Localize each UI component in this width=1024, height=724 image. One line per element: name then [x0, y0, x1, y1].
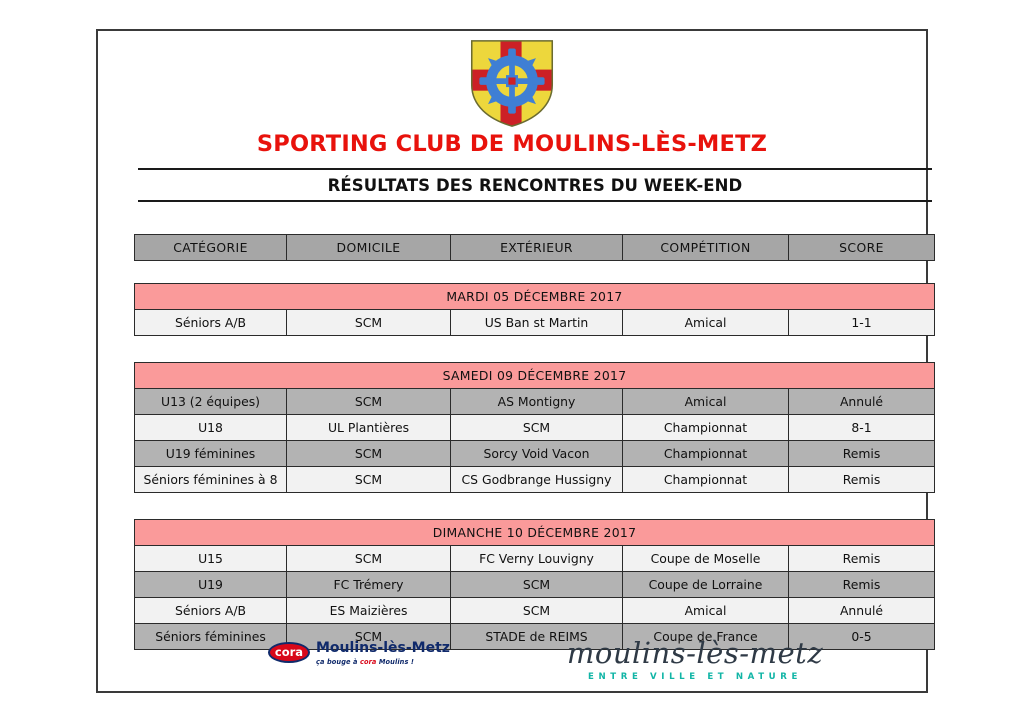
city-logo: moulins-lès-metz ENTRE VILLE ET NATURE — [550, 637, 840, 682]
page-subtitle: RÉSULTATS DES RENCONTRES DU WEEK-END — [138, 170, 932, 200]
cell-score: Remis — [789, 572, 935, 598]
club-crest-shield-icon — [463, 37, 561, 129]
cell-domicile: SCM — [287, 389, 451, 415]
table-row: U13 (2 équipes) SCM AS Montigny Amical A… — [135, 389, 935, 415]
results-column-header-table: CATÉGORIE DOMICILE EXTÉRIEUR COMPÉTITION… — [134, 234, 935, 261]
cell-domicile: SCM — [287, 546, 451, 572]
table-row: Séniors A/B ES Maizières SCM Amical Annu… — [135, 598, 935, 624]
column-header-score: SCORE — [789, 235, 935, 261]
cell-exterieur: SCM — [451, 598, 623, 624]
spacer-after-samedi — [134, 493, 934, 519]
cora-text-block: Moulins-lès-Metz ça bouge à cora Moulins… — [316, 641, 450, 666]
cell-domicile: UL Plantières — [287, 415, 451, 441]
cell-exterieur: CS Godbrange Hussigny — [451, 467, 623, 493]
date-header-row: SAMEDI 09 DÉCEMBRE 2017 — [135, 363, 935, 389]
cell-score: Remis — [789, 467, 935, 493]
cell-domicile: ES Maizières — [287, 598, 451, 624]
date-header-row: DIMANCHE 10 DÉCEMBRE 2017 — [135, 520, 935, 546]
table-row: Séniors féminines à 8 SCM CS Godbrange H… — [135, 467, 935, 493]
column-header-exterieur: EXTÉRIEUR — [451, 235, 623, 261]
cell-score: 1-1 — [789, 310, 935, 336]
cell-exterieur: US Ban st Martin — [451, 310, 623, 336]
cell-score: Annulé — [789, 389, 935, 415]
column-header-domicile: DOMICILE — [287, 235, 451, 261]
table-row: U19 FC Trémery SCM Coupe de Lorraine Rem… — [135, 572, 935, 598]
column-header-categorie: CATÉGORIE — [135, 235, 287, 261]
cell-competition: Championnat — [623, 441, 789, 467]
cell-exterieur: AS Montigny — [451, 389, 623, 415]
cell-exterieur: SCM — [451, 572, 623, 598]
cell-competition: Amical — [623, 389, 789, 415]
cell-competition: Championnat — [623, 415, 789, 441]
table-row: U18 UL Plantières SCM Championnat 8-1 — [135, 415, 935, 441]
date-header-dimanche: DIMANCHE 10 DÉCEMBRE 2017 — [135, 520, 935, 546]
results-block-mardi: MARDI 05 DÉCEMBRE 2017 Séniors A/B SCM U… — [134, 283, 935, 336]
cora-tagline-highlight: cora — [360, 658, 377, 666]
cell-categorie: U13 (2 équipes) — [135, 389, 287, 415]
cell-exterieur: Sorcy Void Vacon — [451, 441, 623, 467]
table-row: U15 SCM FC Verny Louvigny Coupe de Mosel… — [135, 546, 935, 572]
cell-competition: Coupe de Lorraine — [623, 572, 789, 598]
table-row: Séniors A/B SCM US Ban st Martin Amical … — [135, 310, 935, 336]
cell-exterieur: SCM — [451, 415, 623, 441]
printed-page-sheet: SPORTING CLUB DE MOULINS-LÈS-METZ RÉSULT… — [96, 29, 928, 693]
cell-competition: Championnat — [623, 467, 789, 493]
city-name-script: moulins-lès-metz — [550, 637, 840, 669]
results-block-samedi: SAMEDI 09 DÉCEMBRE 2017 U13 (2 équipes) … — [134, 362, 935, 493]
results-area: CATÉGORIE DOMICILE EXTÉRIEUR COMPÉTITION… — [134, 234, 934, 650]
cell-categorie: U15 — [135, 546, 287, 572]
footer-logos: cora Moulins-lès-Metz ça bouge à cora Mo… — [98, 637, 926, 691]
city-slogan: ENTRE VILLE ET NATURE — [550, 672, 840, 682]
cora-sponsor-logo: cora Moulins-lès-Metz ça bouge à cora Mo… — [268, 641, 450, 666]
crest-container — [98, 37, 926, 129]
column-header-competition: COMPÉTITION — [623, 235, 789, 261]
club-title: SPORTING CLUB DE MOULINS-LÈS-METZ — [98, 131, 926, 157]
cora-tagline-after: Moulins ! — [376, 658, 414, 666]
cell-score: Annulé — [789, 598, 935, 624]
cell-competition: Amical — [623, 310, 789, 336]
spacer-after-mardi — [134, 336, 934, 362]
rule-bottom — [138, 200, 932, 202]
date-header-row: MARDI 05 DÉCEMBRE 2017 — [135, 284, 935, 310]
cell-domicile: SCM — [287, 310, 451, 336]
table-row: U19 féminines SCM Sorcy Void Vacon Champ… — [135, 441, 935, 467]
cell-domicile: SCM — [287, 441, 451, 467]
date-header-samedi: SAMEDI 09 DÉCEMBRE 2017 — [135, 363, 935, 389]
cell-score: 8-1 — [789, 415, 935, 441]
cell-categorie: U19 féminines — [135, 441, 287, 467]
cell-score: Remis — [789, 441, 935, 467]
cell-categorie: Séniors A/B — [135, 310, 287, 336]
cell-domicile: SCM — [287, 467, 451, 493]
cell-competition: Amical — [623, 598, 789, 624]
cora-tagline: ça bouge à cora Moulins ! — [316, 658, 450, 666]
cell-score: Remis — [789, 546, 935, 572]
cora-store-name: Moulins-lès-Metz — [316, 641, 450, 656]
cell-categorie: Séniors féminines à 8 — [135, 467, 287, 493]
cell-categorie: U19 — [135, 572, 287, 598]
cell-competition: Coupe de Moselle — [623, 546, 789, 572]
cell-categorie: U18 — [135, 415, 287, 441]
date-header-mardi: MARDI 05 DÉCEMBRE 2017 — [135, 284, 935, 310]
results-block-dimanche: DIMANCHE 10 DÉCEMBRE 2017 U15 SCM FC Ver… — [134, 519, 935, 650]
cell-exterieur: FC Verny Louvigny — [451, 546, 623, 572]
cora-tagline-before: ça bouge à — [316, 658, 360, 666]
cell-domicile: FC Trémery — [287, 572, 451, 598]
subtitle-band: RÉSULTATS DES RENCONTRES DU WEEK-END — [138, 168, 932, 202]
table-header-row: CATÉGORIE DOMICILE EXTÉRIEUR COMPÉTITION… — [135, 235, 935, 261]
cell-categorie: Séniors A/B — [135, 598, 287, 624]
cora-oval-icon: cora — [268, 642, 310, 663]
spacer-after-header — [134, 261, 934, 283]
